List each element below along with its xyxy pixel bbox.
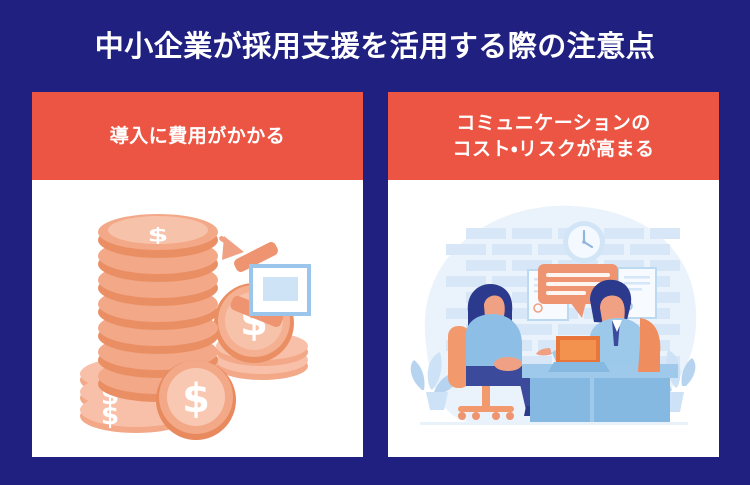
- svg-text:$: $: [147, 224, 168, 246]
- card-cost-body: $: [32, 180, 363, 457]
- card-communication-body: [388, 180, 719, 457]
- card-cost-header-line-1: 導入に費用がかかる: [110, 123, 286, 149]
- wall-clock-icon: [563, 221, 605, 263]
- interview-meeting-illustration: [404, 194, 704, 444]
- card-communication-header-line-2: コスト・リスクが高まる: [453, 136, 655, 162]
- card-cost: 導入に費用がかかる $: [32, 92, 363, 457]
- slide-canvas: 中小企業が採用支援を活用する際の注意点 導入に費用がかかる: [0, 0, 750, 485]
- card-communication: コミュニケーションの コスト・リスクが高まる: [388, 92, 719, 457]
- card-communication-header-line-1: コミュニケーションの: [453, 110, 655, 136]
- coin-stack-illustration: $: [48, 188, 348, 450]
- coin-group-main: $ $: [80, 214, 236, 440]
- card-communication-header: コミュニケーションの コスト・リスクが高まる: [388, 92, 719, 180]
- svg-text:$: $: [182, 376, 210, 422]
- floor-line: [420, 422, 688, 425]
- desk: [522, 364, 678, 422]
- card-cost-header: 導入に費用がかかる: [32, 92, 363, 180]
- page-title: 中小企業が採用支援を活用する際の注意点: [0, 26, 750, 66]
